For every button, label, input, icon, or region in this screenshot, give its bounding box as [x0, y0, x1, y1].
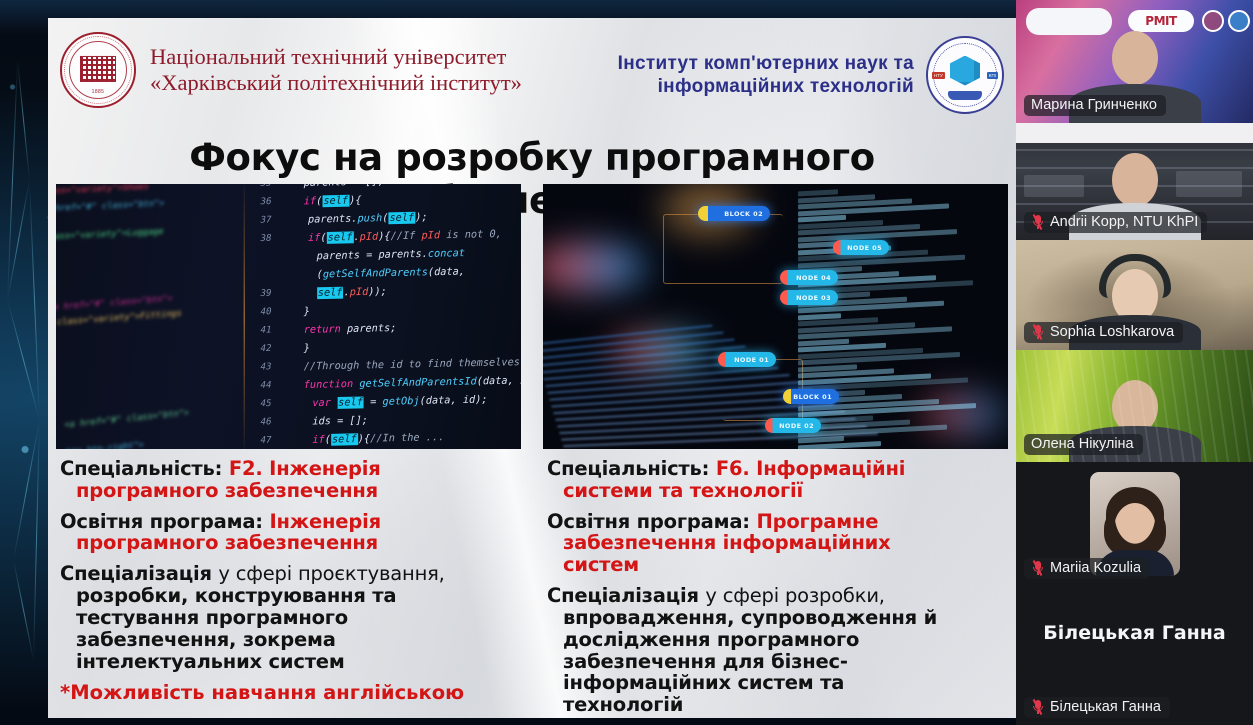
program-value-3: систем — [547, 554, 1004, 576]
code-line-number: 37 — [261, 215, 272, 226]
program-value-1: Програмне — [756, 510, 878, 533]
code-line: if(self){ — [304, 195, 362, 208]
participant-name: Марина Гринченко — [1031, 97, 1157, 113]
silhouette-head — [1112, 380, 1158, 434]
specialization-text-1: впровадження, супроводження й — [547, 607, 1004, 629]
microphone-muted-icon — [1031, 214, 1044, 230]
participant-name-bar[interactable]: Марина Гринченко — [1024, 95, 1166, 116]
participant-name: Andrii Kopp, NTU KhPI — [1050, 214, 1198, 230]
specialization-text-5: технологій — [547, 694, 1004, 716]
emblem-tag-right: КПІ — [987, 72, 998, 79]
university-line-1: Національний технічний університет — [150, 44, 522, 70]
participant-name-bar[interactable]: Mariia Kozulia — [1024, 558, 1150, 579]
program-line-1: Освітня програма: Інженерія — [60, 511, 517, 533]
microphone-muted-icon — [1031, 324, 1044, 340]
background-code-line — [798, 189, 838, 196]
specialty-value-2: системи та технології — [547, 480, 1004, 502]
specialization-block-f6: Спеціалізація у сфері розробки, впровадж… — [547, 585, 1004, 716]
participant-tile[interactable]: Білецькая Ганна Білецькая Ганна — [1016, 586, 1253, 725]
specialty-value-2: програмного забезпечення — [60, 480, 517, 502]
code-line: return parents; — [304, 322, 397, 336]
university-name: Національний технічний університет «Харк… — [150, 44, 522, 96]
program-value-1: Інженерія — [269, 510, 380, 533]
code-line: } — [304, 343, 310, 355]
code-side-tag: class="variety">Fittings<a href="#" clas… — [57, 308, 182, 327]
participant-tile[interactable]: Олена Нікуліна — [1016, 350, 1253, 462]
specialization-line-1: Спеціалізація у сфері проєктування, — [60, 563, 517, 585]
program-line-1: Освітня програма: Програмне — [547, 511, 1004, 533]
specialization-text-4: інформаційних систем та — [547, 672, 1004, 694]
program-block-f2: Освітня програма: Інженерія програмного … — [60, 511, 517, 555]
emblem-tag-left: НТУ — [932, 72, 945, 79]
code-line: } — [304, 306, 310, 318]
specialization-text-1: розробки, конструювання та — [60, 585, 517, 607]
participant-name-bar[interactable]: Andrii Kopp, NTU KhPI — [1024, 212, 1207, 233]
specialty-block-f6: Спеціальність: F6. Інформаційні системи … — [547, 458, 1004, 502]
participant-name: Олена Нікуліна — [1031, 436, 1134, 452]
program-value-2: програмного забезпечення — [60, 532, 517, 554]
seal-ntu-khpi-icon: 1885 — [60, 32, 136, 108]
specialty-line-1: Спеціальність: F2. Інженерія — [60, 458, 517, 480]
specialization-text-4: інтелектуальних систем — [60, 651, 517, 673]
emblem-kniit-icon: НТУ КПІ — [926, 36, 1004, 114]
code-line: parents = []; — [304, 184, 384, 189]
participant-tile[interactable]: Sophia Loshkarova — [1016, 240, 1253, 350]
institute-line-1: Інститут комп'ютерних наук та — [618, 52, 914, 75]
program-label: Освітня програма: — [547, 510, 750, 533]
program-value-2: забезпечення інформаційних — [547, 532, 1004, 554]
network-node-pill: BLOCK 02 — [698, 206, 770, 221]
university-line-2: «Харківський політехнічний інститут» — [150, 70, 522, 96]
specialty-code: F6. — [716, 457, 750, 480]
participant-name: Білецькая Ганна — [1050, 699, 1161, 715]
participant-tile[interactable]: Andrii Kopp, NTU KhPI — [1016, 123, 1253, 240]
specialization-text-2: тестування програмного — [60, 607, 517, 629]
english-footnote: *Можливість навчання англійською — [60, 681, 517, 704]
participant-rail[interactable]: PMIT Марина Гринченко — [1016, 0, 1253, 725]
specialization-label: Спеціалізація — [60, 562, 212, 585]
code-line-number: 35 — [261, 184, 272, 189]
specialization-block-f2: Спеціалізація у сфері проєктування, розр… — [60, 563, 517, 672]
code-line-number: 45 — [261, 398, 272, 409]
network-node-pill: NODE 05 — [833, 240, 889, 255]
slide-header: 1885 Національний технічний університет … — [48, 18, 1016, 126]
background-code-block — [794, 184, 1008, 449]
specialty-code: F2. — [229, 457, 263, 480]
participant-name-bar[interactable]: Олена Нікуліна — [1024, 434, 1143, 455]
university-branding: 1885 Національний технічний університет … — [60, 32, 522, 108]
column-f2: Спеціальність: F2. Інженерія програмного… — [56, 458, 521, 718]
code-line: if(self.pId){//If pId is not 0, — [308, 228, 502, 244]
network-node-pill: NODE 01 — [718, 352, 776, 367]
code-line-number: 39 — [261, 288, 272, 299]
specialization-label: Спеціалізація — [547, 584, 699, 607]
institute-line-2: інформаційних технологій — [618, 75, 914, 98]
screen-root: 1885 Національний технічний університет … — [0, 0, 1253, 725]
data-network-photo: BLOCK 02NODE 05NODE 04NODE 03NODE 01BLOC… — [543, 184, 1008, 449]
decoration-ring-b — [1228, 10, 1250, 32]
code-line-number: 42 — [261, 343, 272, 354]
specialty-label: Спеціальність: — [547, 457, 709, 480]
network-node-pill: NODE 03 — [780, 290, 838, 305]
specialization-text-3: забезпечення для бізнес- — [547, 651, 1004, 673]
code-line-number: 40 — [261, 307, 272, 318]
code-line: (getSelfAndParents(data, — [317, 266, 465, 281]
specialty-value-1: Інформаційні — [756, 457, 905, 480]
specialization-text-0: у сфері розробки, — [705, 584, 884, 607]
code-line-number: 38 — [261, 233, 272, 244]
participant-name-bar[interactable]: Білецькая Ганна — [1024, 697, 1170, 718]
code-line-number: 46 — [261, 417, 272, 428]
microphone-muted-icon — [1031, 699, 1044, 715]
code-editor-photo: class="variety">Shoes<a href="#" class="… — [56, 184, 521, 449]
network-node-pill: BLOCK 01 — [783, 389, 839, 404]
code-side-tag: class="variety">Shoes — [56, 184, 149, 196]
specialty-line-1: Спеціальність: F6. Інформаційні — [547, 458, 1004, 480]
code-line-number: 44 — [261, 380, 272, 391]
participant-name: Sophia Loshkarova — [1050, 324, 1174, 340]
slide-columns: Спеціальність: F2. Інженерія програмного… — [56, 458, 1008, 718]
specialization-line-1: Спеціалізація у сфері розробки, — [547, 585, 1004, 607]
specialization-text-2: дослідження програмного — [547, 629, 1004, 651]
column-f6: Спеціальність: F6. Інформаційні системи … — [543, 458, 1008, 718]
code-line-number: 47 — [261, 435, 272, 446]
participant-display-name: Білецькая Ганна — [1016, 622, 1253, 644]
code-line-number: 36 — [261, 196, 272, 207]
slide-images: class="variety">Shoes<a href="#" class="… — [56, 184, 1008, 449]
silhouette-head — [1112, 31, 1158, 85]
institute-branding: Інститут комп'ютерних наук та інформацій… — [618, 36, 1004, 114]
code-line: function getSelfAndParentsId(data, id) { — [304, 374, 521, 391]
shared-slide[interactable]: 1885 Національний технічний університет … — [48, 18, 1016, 718]
code-line: self.pId)); — [317, 286, 387, 299]
specialization-text-0: у сфері проєктування, — [218, 562, 444, 585]
code-line: parents = parents.concat — [317, 247, 465, 262]
code-side-tag: class="variety">Luggage<a href="#" class… — [56, 226, 164, 241]
participant-name-bar[interactable]: Sophia Loshkarova — [1024, 322, 1183, 343]
silhouette-head — [1112, 153, 1158, 207]
specialty-value-1: Інженерія — [269, 457, 380, 480]
seal-year: 1885 — [92, 89, 105, 95]
network-node-pill: NODE 02 — [765, 418, 821, 433]
code-line: ids = []; — [312, 415, 368, 428]
participant-tile[interactable]: Mariia Kozulia — [1016, 462, 1253, 586]
code-side-tag: btn btn-right"> — [66, 440, 145, 449]
code-line: //Through the id to find themselves and … — [304, 355, 521, 372]
code-line-number: 41 — [261, 325, 272, 336]
code-line: if(self){//In the ... — [312, 431, 444, 446]
institute-name: Інститут комп'ютерних наук та інформацій… — [618, 52, 914, 98]
microphone-muted-icon — [1031, 560, 1044, 576]
program-block-f6: Освітня програма: Програмне забезпечення… — [547, 511, 1004, 576]
specialty-label: Спеціальність: — [60, 457, 222, 480]
code-line: parents.push(self); — [308, 212, 428, 226]
specialty-block-f2: Спеціальність: F2. Інженерія програмного… — [60, 458, 517, 502]
network-node-pill: NODE 04 — [780, 270, 838, 285]
code-line: var self = getObj(data, id); — [312, 394, 487, 410]
participant-tile[interactable]: PMIT Марина Гринченко — [1016, 0, 1253, 123]
specialization-text-3: забезпечення, зокрема — [60, 629, 517, 651]
program-label: Освітня програма: — [60, 510, 263, 533]
code-line-number: 43 — [261, 362, 272, 373]
participant-name: Mariia Kozulia — [1050, 560, 1141, 576]
